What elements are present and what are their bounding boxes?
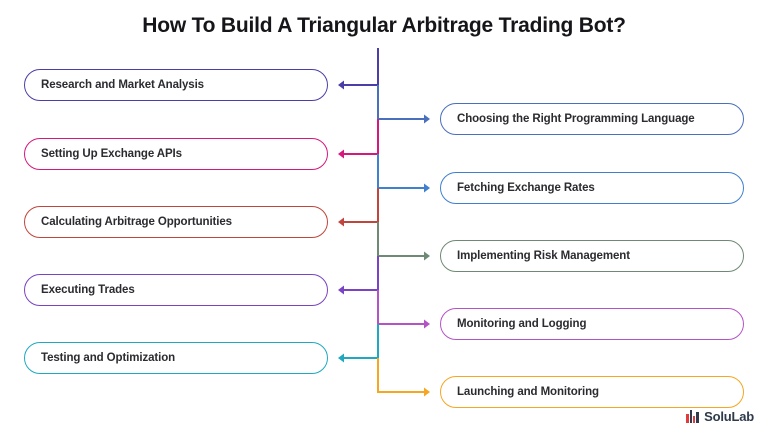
connector-elbow-1: [344, 48, 378, 85]
brand-name: SoluLab: [704, 409, 754, 424]
connector-arrowhead-7: [338, 286, 344, 295]
step-label: Fetching Exchange Rates: [441, 182, 595, 194]
step-label: Implementing Risk Management: [441, 250, 630, 262]
step-label: Testing and Optimization: [25, 352, 175, 364]
connector-arrowhead-9: [338, 354, 344, 363]
step-box-10[interactable]: Launching and Monitoring: [440, 376, 744, 408]
connector-elbow-10: [378, 358, 424, 392]
connector-elbow-7: [344, 256, 378, 290]
connector-arrowhead-5: [338, 218, 344, 227]
step-box-6[interactable]: Implementing Risk Management: [440, 240, 744, 272]
step-box-4[interactable]: Fetching Exchange Rates: [440, 172, 744, 204]
step-box-3[interactable]: Setting Up Exchange APIs: [24, 138, 328, 170]
connector-arrowhead-1: [338, 81, 344, 90]
connector-elbow-5: [344, 188, 378, 222]
step-label: Monitoring and Logging: [441, 318, 586, 330]
connector-arrowhead-3: [338, 150, 344, 159]
connector-elbow-9: [344, 324, 378, 358]
step-box-8[interactable]: Monitoring and Logging: [440, 308, 744, 340]
connector-arrowhead-6: [424, 252, 430, 261]
connector-arrowhead-10: [424, 388, 430, 397]
infographic-canvas: How To Build A Triangular Arbitrage Trad…: [0, 0, 768, 432]
connector-elbow-4: [378, 154, 424, 188]
step-box-5[interactable]: Calculating Arbitrage Opportunities: [24, 206, 328, 238]
solulab-bars-icon: [686, 410, 699, 423]
step-label: Executing Trades: [25, 284, 135, 296]
brand-logo: SoluLab: [686, 409, 754, 424]
step-label: Calculating Arbitrage Opportunities: [25, 216, 232, 228]
step-label: Launching and Monitoring: [441, 386, 599, 398]
step-box-2[interactable]: Choosing the Right Programming Language: [440, 103, 744, 135]
connector-arrowhead-4: [424, 184, 430, 193]
connector-elbow-6: [378, 222, 424, 256]
step-box-7[interactable]: Executing Trades: [24, 274, 328, 306]
connector-elbow-3: [344, 119, 378, 154]
connector-elbow-8: [378, 290, 424, 324]
step-label: Research and Market Analysis: [25, 79, 204, 91]
connector-arrowhead-2: [424, 115, 430, 124]
step-label: Choosing the Right Programming Language: [441, 113, 695, 125]
connector-elbow-2: [378, 85, 424, 119]
connector-arrowhead-8: [424, 320, 430, 329]
step-box-1[interactable]: Research and Market Analysis: [24, 69, 328, 101]
step-label: Setting Up Exchange APIs: [25, 148, 182, 160]
step-box-9[interactable]: Testing and Optimization: [24, 342, 328, 374]
